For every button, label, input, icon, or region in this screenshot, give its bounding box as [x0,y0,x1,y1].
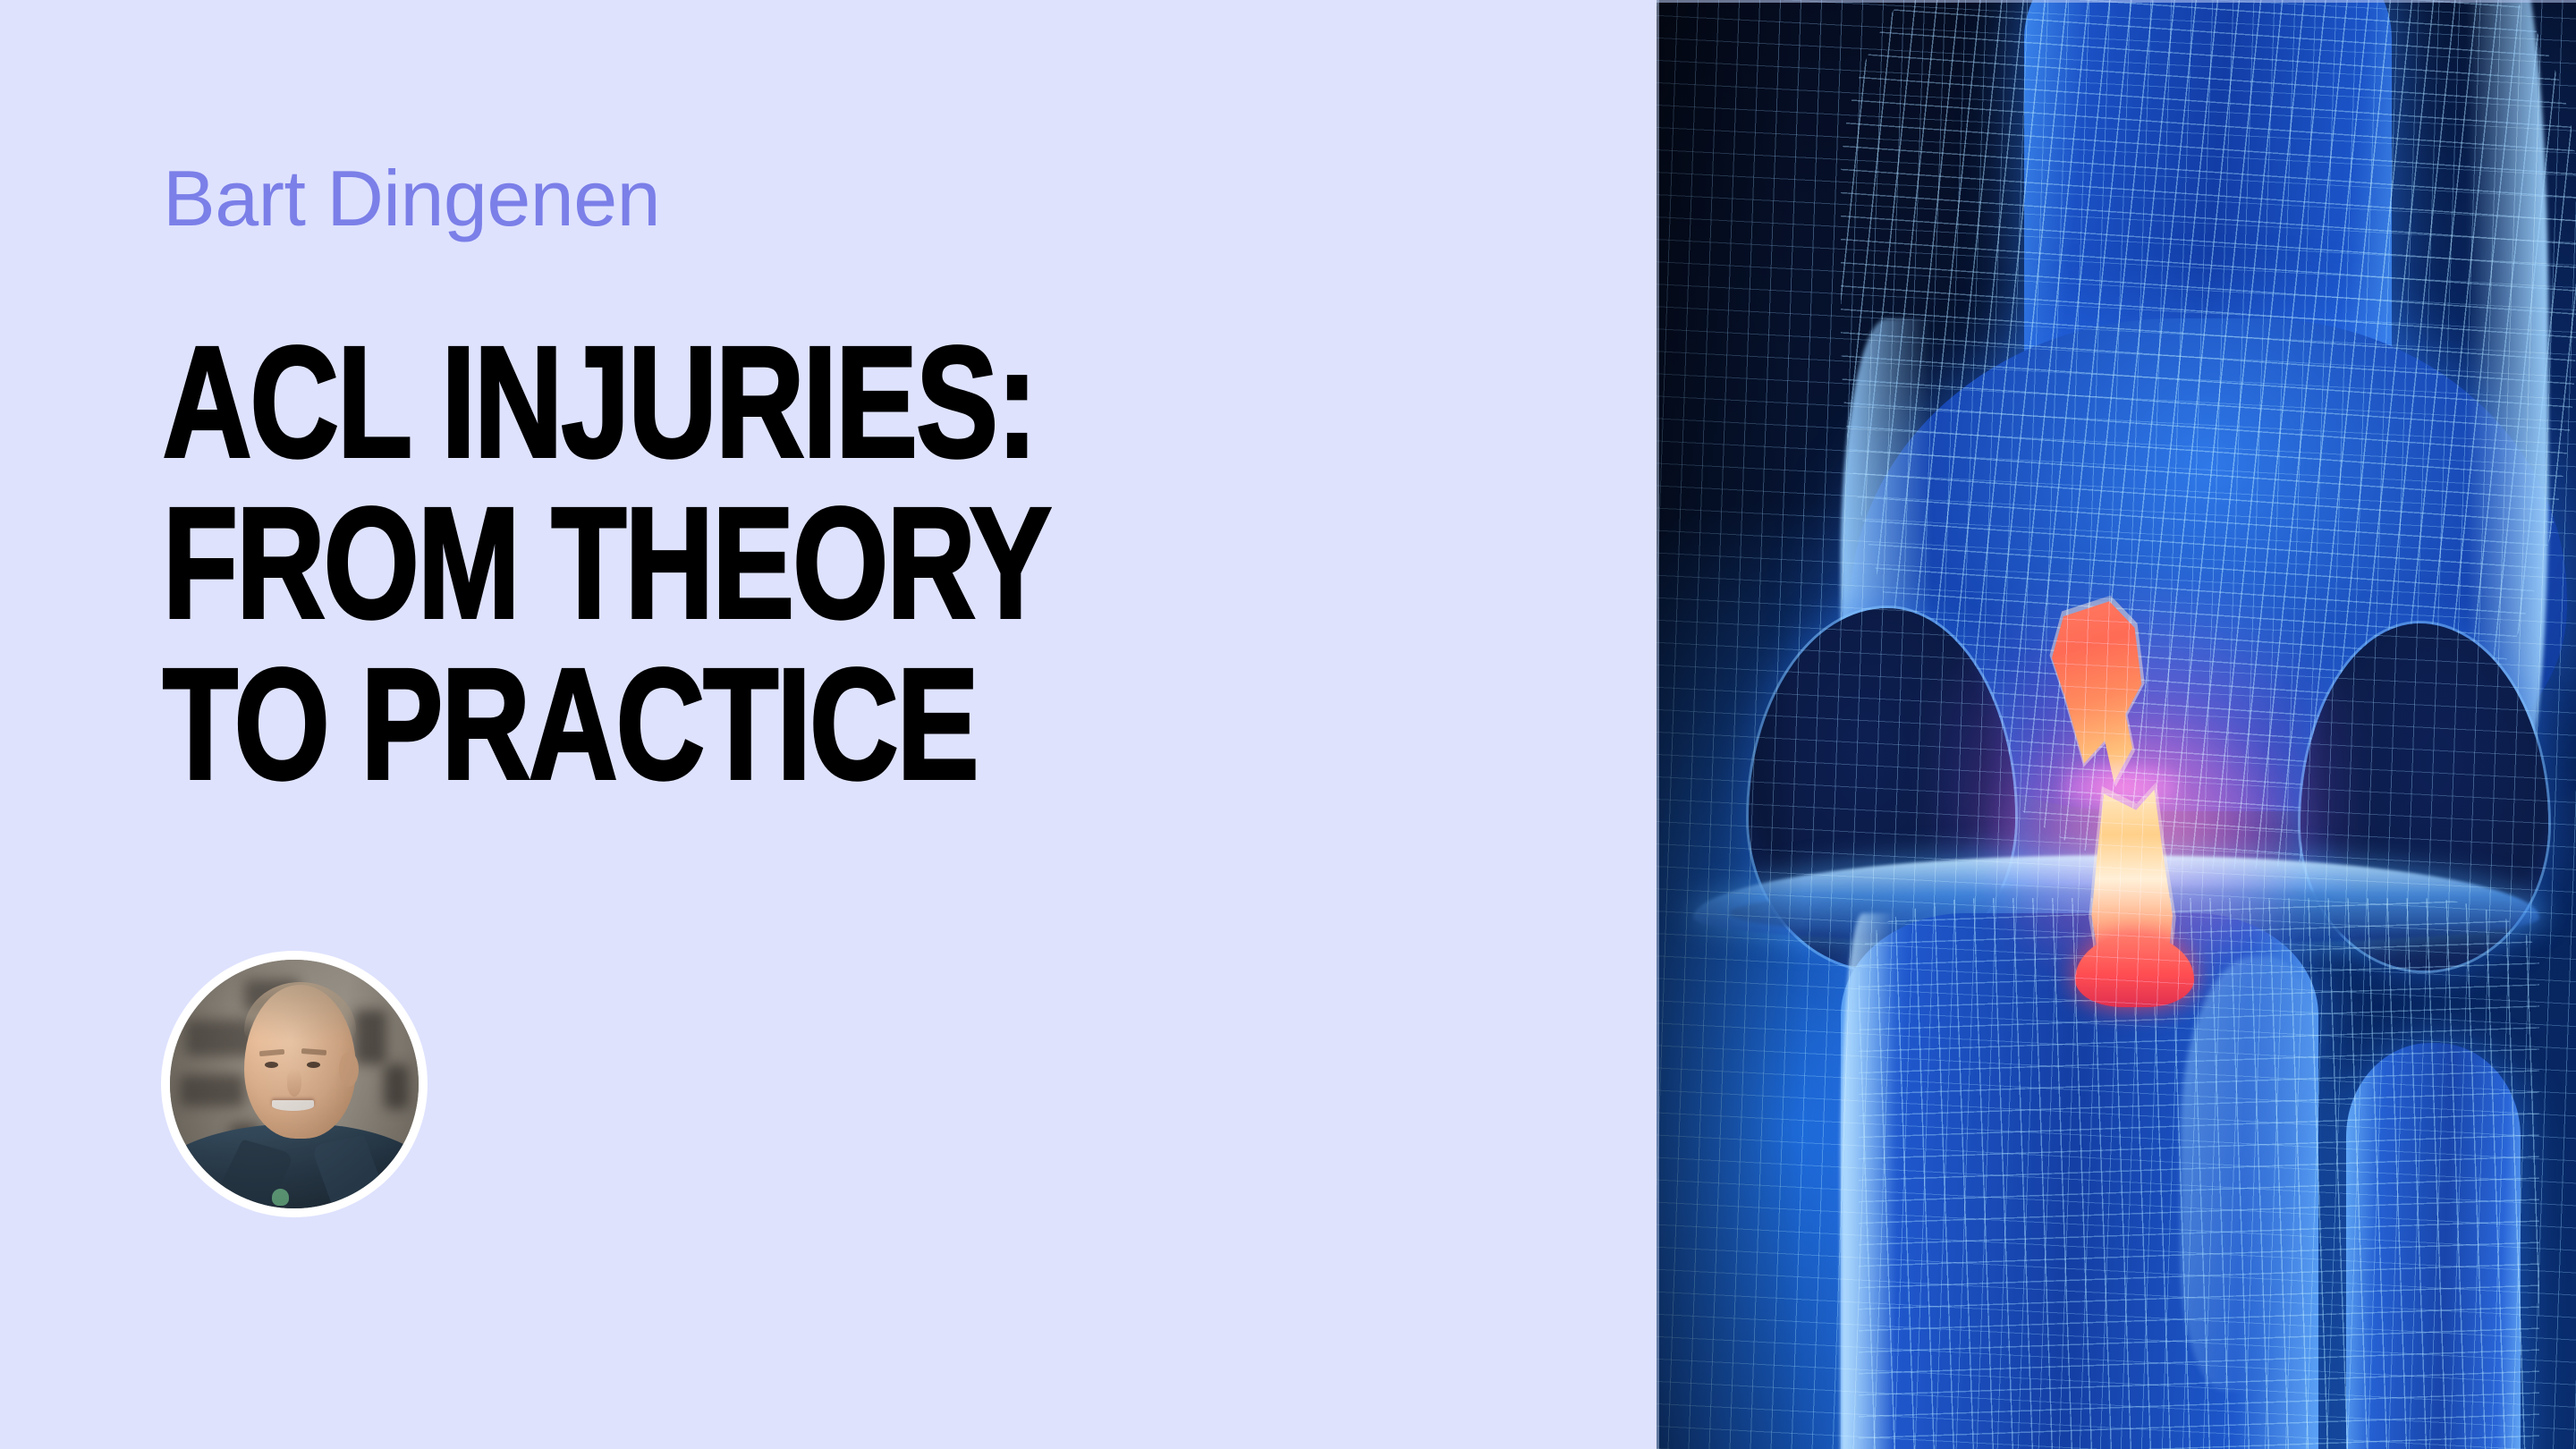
avatar-bg-blur-4 [354,1010,386,1064]
knee-illustration-layer [1657,0,2576,1449]
page-title: ACL INJURIES: FROM THEORY TO PRACTICE [163,322,1415,805]
image-left-border [1657,0,1659,1449]
avatar-mouth [272,1100,314,1111]
avatar-bg-blur-6 [384,1064,409,1109]
title-line-2: FROM THEORY [163,483,1140,644]
presentation-slide: Bart Dingenen ACL INJURIES: FROM THEORY … [0,0,2576,1449]
avatar [161,951,428,1217]
global-wireframe-mesh [1657,0,2576,1449]
knee-anatomy-image [1657,0,2576,1449]
avatar-bg-blur-2 [180,1074,244,1106]
avatar-nose [287,1069,302,1097]
image-top-border [1657,0,2576,3]
left-text-panel: Bart Dingenen ACL INJURIES: FROM THEORY … [0,0,1657,1449]
title-line-3: TO PRACTICE [163,644,1140,805]
author-name: Bart Dingenen [163,159,660,238]
avatar-shirt-logo [272,1189,289,1206]
avatar-photo [170,960,419,1208]
avatar-ear [339,1052,359,1087]
title-line-1: ACL INJURIES: [163,322,1140,483]
